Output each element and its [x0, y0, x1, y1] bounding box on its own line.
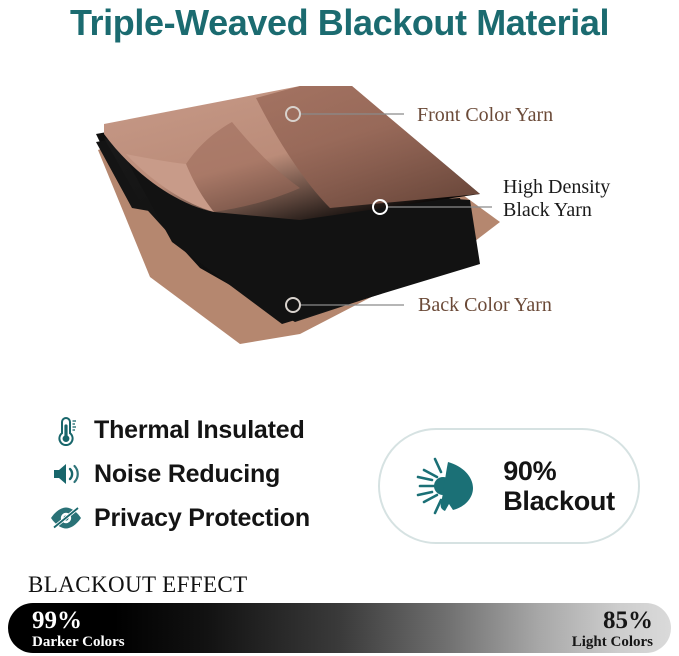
- badge-percent: 90%: [503, 456, 615, 486]
- feature-noise-reducing: Noise Reducing: [46, 452, 366, 496]
- speaker-icon: [46, 460, 86, 488]
- fabric-layers-illustration: [0, 72, 679, 372]
- label-back-color-yarn: Back Color Yarn: [418, 294, 552, 317]
- label-front-color-yarn: Front Color Yarn: [417, 104, 553, 127]
- badge-text: 90% Blackout: [503, 456, 615, 516]
- blackout-effect-gradient-bar: 99% Darker Colors 85% Light Colors: [8, 603, 671, 653]
- infographic-page: Triple-Weaved Blackout Material: [0, 0, 679, 656]
- bar-left-values: 99% Darker Colors: [32, 608, 125, 651]
- feature-thermal-insulated: Thermal Insulated: [46, 408, 366, 452]
- fabric-layer-diagram: Front Color Yarn High Density Black Yarn…: [0, 72, 679, 372]
- label-high-density-black-yarn: High Density Black Yarn: [503, 176, 673, 222]
- eye-slash-icon: [46, 505, 86, 531]
- feature-list: Thermal Insulated Noise Reducing: [46, 408, 366, 540]
- sun-blocked-icon: [403, 450, 489, 522]
- feature-label-noise-reducing: Noise Reducing: [86, 460, 280, 489]
- bar-left-percent: 99%: [32, 608, 125, 634]
- page-title: Triple-Weaved Blackout Material: [0, 2, 679, 44]
- blackout-badge: 90% Blackout: [378, 428, 640, 544]
- bar-right-values: 85% Light Colors: [572, 608, 653, 651]
- bar-right-caption: Light Colors: [572, 634, 653, 651]
- bar-right-percent: 85%: [572, 608, 653, 634]
- label-black-line2: Black Yarn: [503, 199, 673, 222]
- label-black-line1: High Density: [503, 176, 673, 199]
- badge-label: Blackout: [503, 486, 615, 516]
- thermometer-icon: [46, 414, 86, 446]
- feature-label-thermal-insulated: Thermal Insulated: [86, 416, 305, 445]
- blackout-effect-heading: BLACKOUT EFFECT: [28, 572, 248, 598]
- feature-privacy-protection: Privacy Protection: [46, 496, 366, 540]
- feature-label-privacy-protection: Privacy Protection: [86, 504, 310, 533]
- bar-left-caption: Darker Colors: [32, 634, 125, 651]
